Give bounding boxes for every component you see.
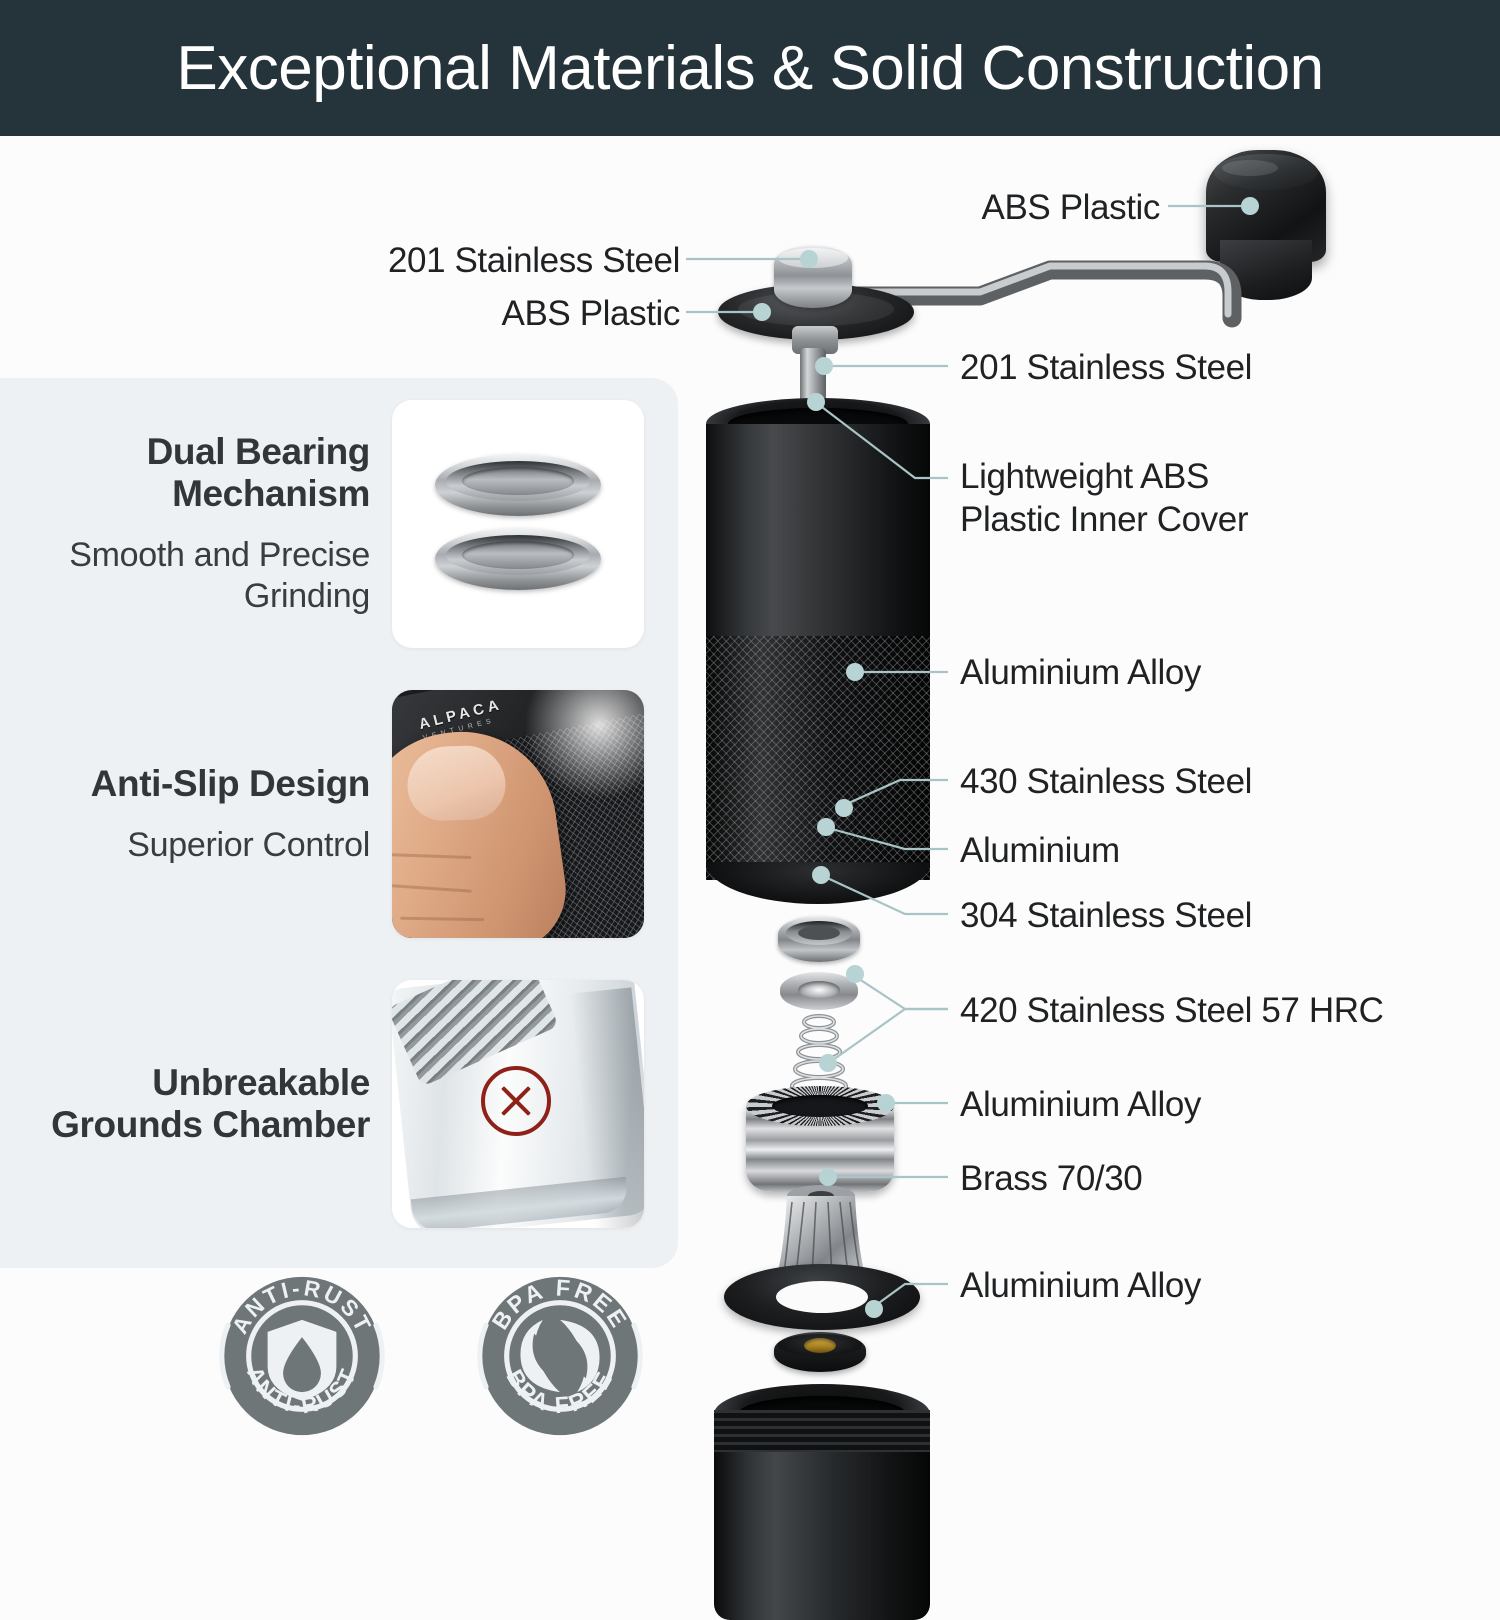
- callout-alu-alloy-body: Aluminium Alloy: [960, 651, 1201, 694]
- callout-ss420-burr: 420 Stainless Steel 57 HRC: [960, 989, 1383, 1032]
- bearing-part: [778, 916, 860, 962]
- callout-ss201-crank: 201 Stainless Steel: [960, 346, 1252, 389]
- thumb-grip-illustration: ALPACA VENTURES: [392, 690, 644, 938]
- body-knurled-section: [706, 636, 930, 880]
- crank-hub-cap-part: [774, 246, 852, 308]
- feature-text-block: Anti-Slip Design Superior Control: [0, 690, 392, 938]
- thumb-on-knurled-body-photo: ALPACA VENTURES: [392, 690, 644, 938]
- feature-row-grounds-chamber: Unbreakable Grounds Chamber: [0, 980, 678, 1228]
- feature-row-anti-slip: Anti-Slip Design Superior Control ALPACA…: [0, 690, 678, 938]
- feature-text-block: Dual Bearing Mechanism Smooth and Precis…: [0, 400, 392, 648]
- body-bottom-edge: [706, 862, 930, 904]
- grounds-chamber-body: [714, 1452, 930, 1620]
- callout-abs-plastic-disc: ABS Plastic: [240, 292, 680, 335]
- skin-crease: [392, 884, 472, 893]
- feature-panel: Dual Bearing Mechanism Smooth and Precis…: [0, 378, 678, 1268]
- feature-title: Unbreakable Grounds Chamber: [0, 1062, 370, 1146]
- grounds-chamber-threads: [714, 1410, 930, 1454]
- body-upper-smooth-section: ALPACA VENTURES: [706, 424, 930, 644]
- callout-abs-plastic-knob: ABS Plastic: [700, 186, 1160, 229]
- header-bar: Exceptional Materials & Solid Constructi…: [0, 0, 1500, 136]
- feature-subtitle: Superior Control: [0, 825, 370, 866]
- bpa-free-badge: BPA FREE BPA FREE: [474, 1270, 646, 1442]
- glass-jar-crossed-out-photo: [392, 980, 644, 1228]
- callout-alu-alloy-chamber: Aluminium Alloy: [960, 1264, 1201, 1307]
- trust-badges: ANTI-RUST ANTI-RUST BPA FREE: [216, 1270, 646, 1442]
- feature-title: Dual Bearing Mechanism: [0, 431, 370, 515]
- feature-title: Anti-Slip Design: [0, 763, 370, 805]
- feature-subtitle: Smooth and Precise Grinding: [0, 535, 370, 617]
- anti-rust-badge: ANTI-RUST ANTI-RUST: [216, 1270, 388, 1442]
- callout-ss304-spring: 304 Stainless Steel: [960, 894, 1252, 937]
- skin-crease: [392, 853, 471, 859]
- prohibition-x-icon: [481, 1066, 551, 1136]
- glass-jar-illustration: [392, 980, 644, 1228]
- callout-ss430-bearing: 430 Stainless Steel: [960, 760, 1252, 803]
- callout-brass-adjuster: Brass 70/30: [960, 1157, 1142, 1200]
- thumbnail-shape: [406, 744, 507, 821]
- aluminium-washer-part: [780, 972, 858, 1010]
- highlight-glow: [524, 690, 644, 800]
- callout-ss201-hub: 201 Stainless Steel: [240, 239, 680, 282]
- feature-text-block: Unbreakable Grounds Chamber: [0, 980, 392, 1228]
- dual-bearings-photo: [392, 400, 644, 648]
- ring-burr-teeth: [746, 1086, 894, 1126]
- brass-adjustment-dial-part: [774, 1332, 866, 1372]
- callout-aluminium-washer: Aluminium: [960, 829, 1120, 872]
- skin-crease: [400, 917, 484, 921]
- burr-ring-base-part: [724, 1264, 920, 1330]
- bearing-ring-lower: [435, 528, 601, 590]
- bearing-ring-upper: [435, 454, 601, 516]
- callout-alu-alloy-ringbase: Aluminium Alloy: [960, 1083, 1201, 1126]
- page-title: Exceptional Materials & Solid Constructi…: [176, 33, 1323, 104]
- callout-abs-inner-cover: Lightweight ABS Plastic Inner Cover: [960, 455, 1248, 542]
- coil-spring-part: [782, 1014, 856, 1096]
- feature-row-dual-bearing: Dual Bearing Mechanism Smooth and Precis…: [0, 400, 678, 648]
